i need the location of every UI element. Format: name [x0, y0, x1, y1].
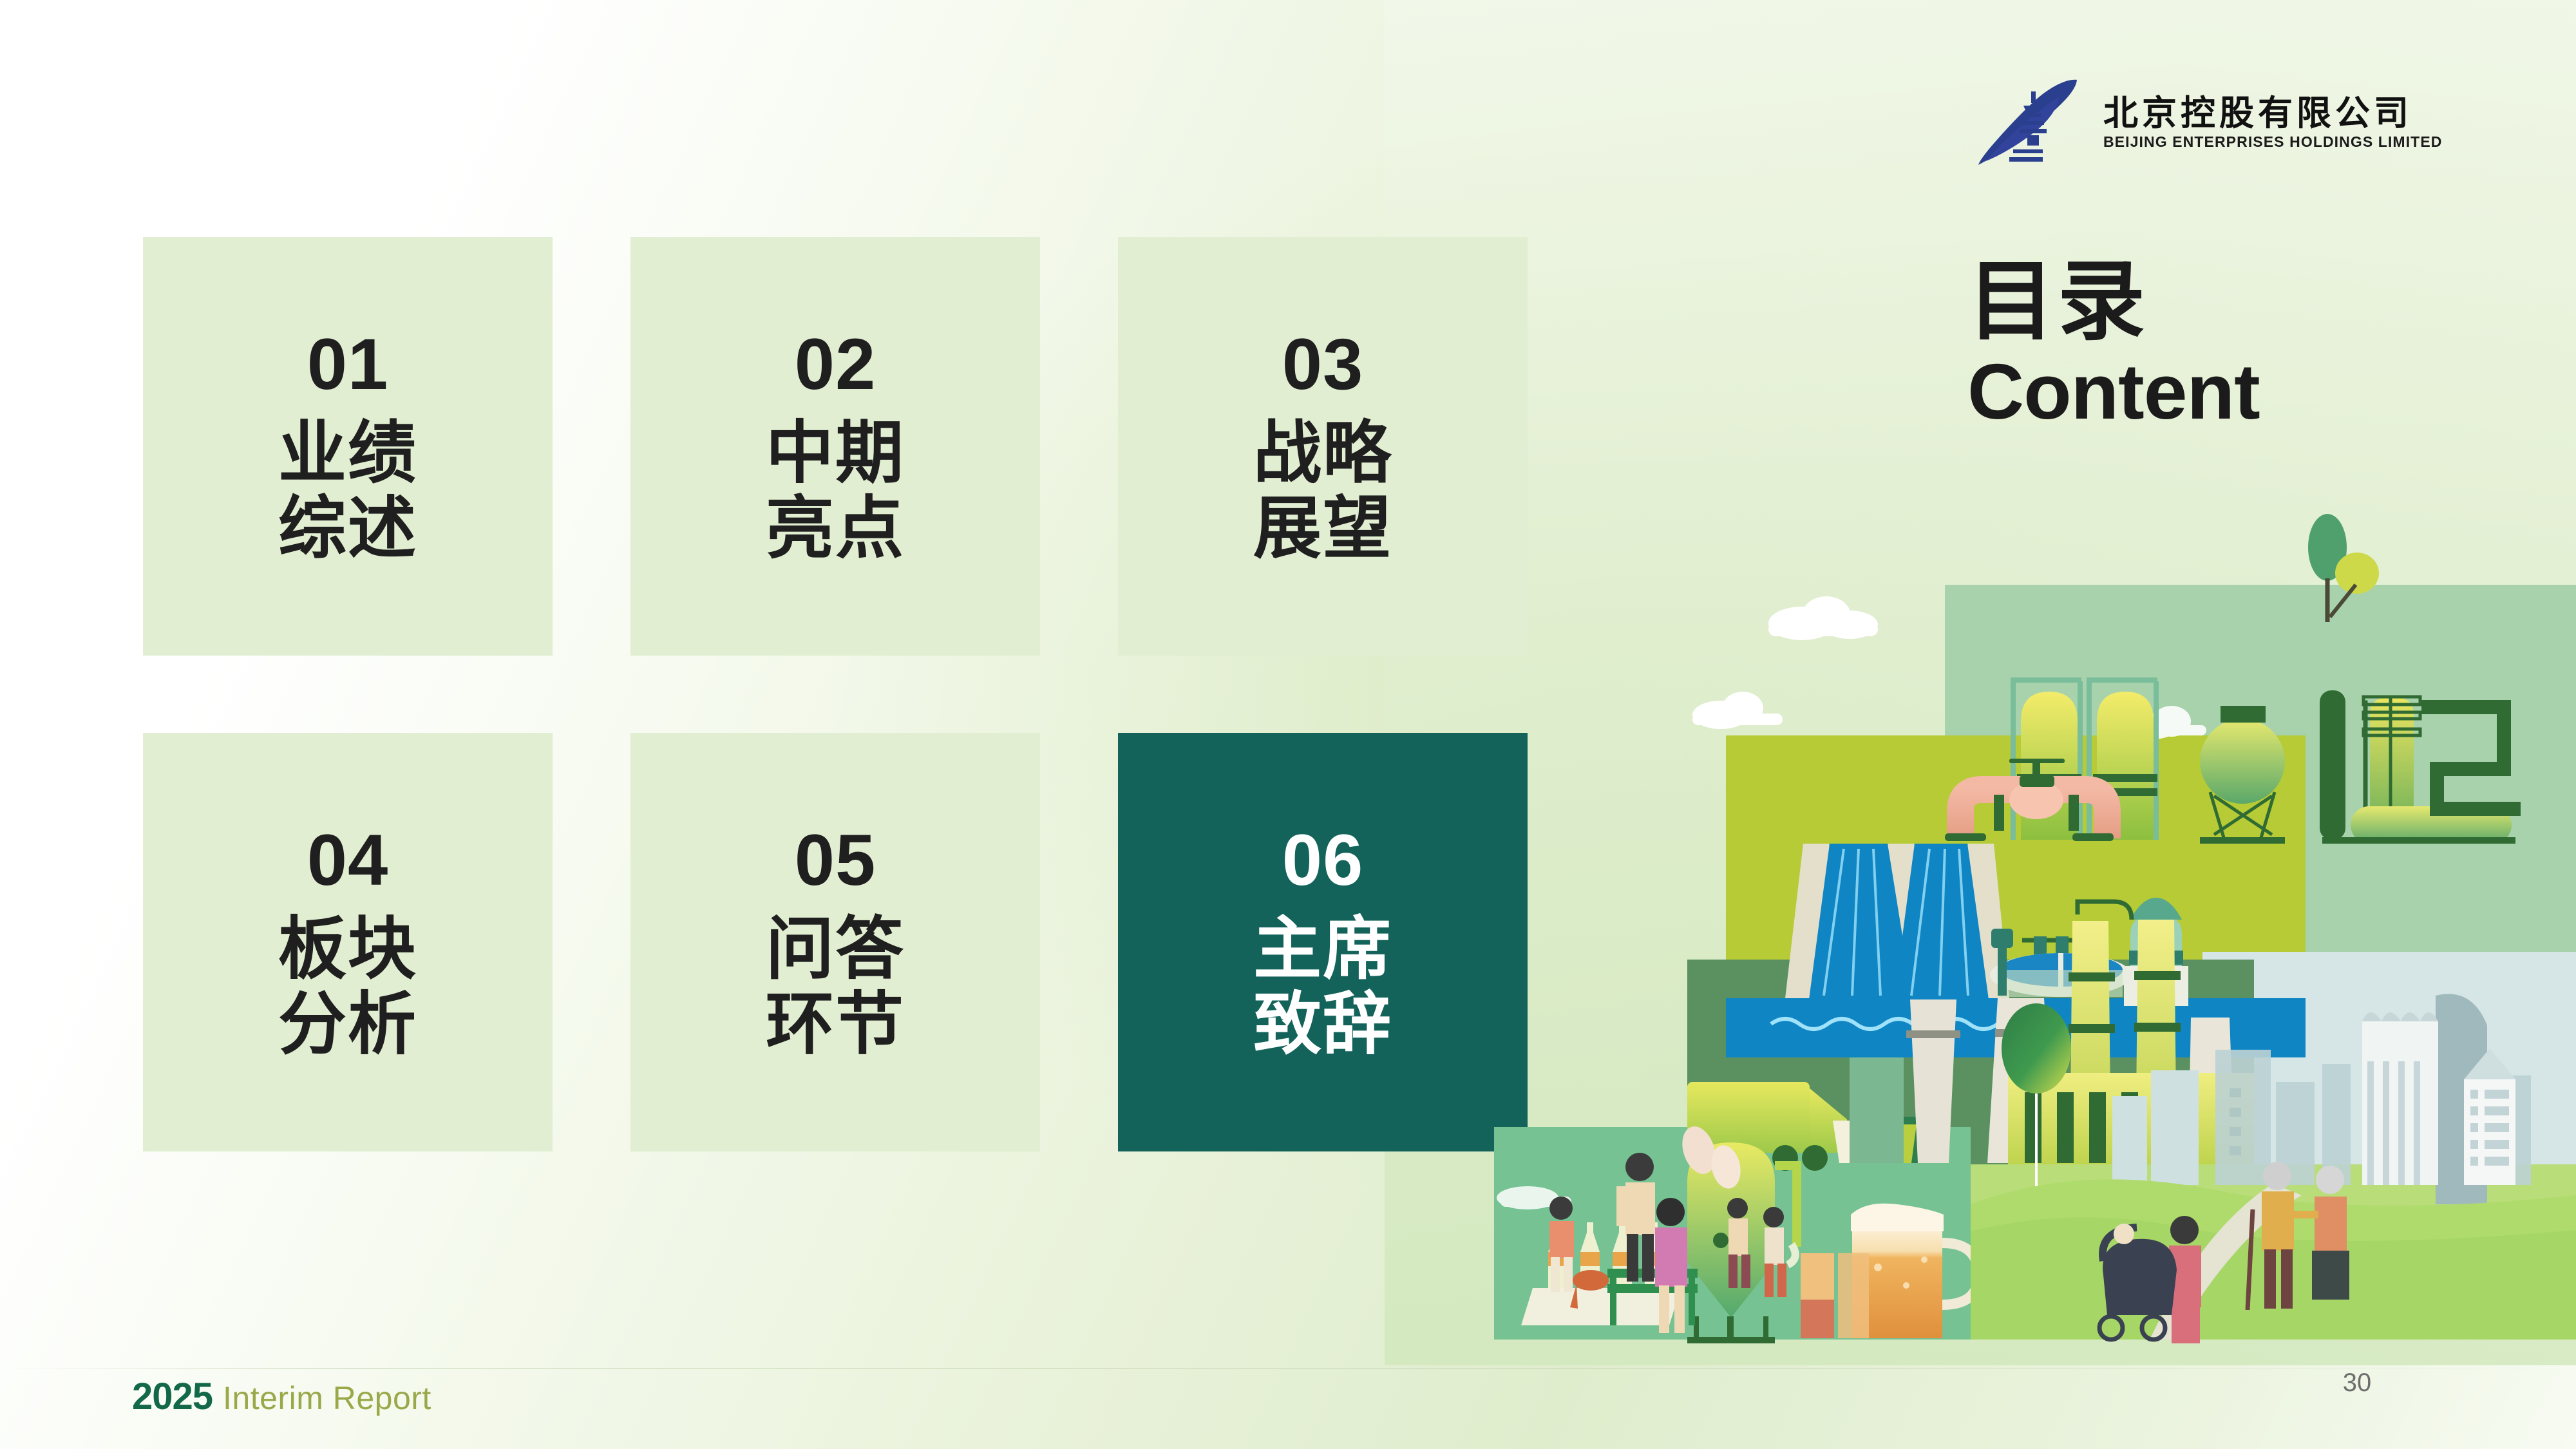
business-segments-illustration	[1494, 509, 2576, 1359]
agenda-tile-04[interactable]: 04 板块 分析	[143, 733, 553, 1151]
agenda-tile-02-label-line1: 中期	[766, 416, 905, 491]
agenda-tile-02[interactable]: 02 中期 亮点	[630, 237, 1040, 656]
agenda-tile-02-number: 02	[795, 328, 876, 401]
footer-report-label: 2025 Interim Report	[132, 1378, 431, 1416]
page-title-chinese: 目录	[1967, 258, 2260, 347]
agenda-tile-06[interactable]: 06 主席 致辞	[1118, 733, 1528, 1151]
agenda-tile-01[interactable]: 01 业绩 综述	[143, 237, 553, 656]
agenda-tile-05-label-line2: 环节	[766, 987, 905, 1063]
agenda-tile-grid: 01 业绩 综述 02 中期 亮点 03 战略 展望 04 板块 分析 05 问…	[143, 237, 1528, 1151]
slide-root: 北京控股有限公司 BEIJING ENTERPRISES HOLDINGS LI…	[0, 0, 2576, 1449]
agenda-tile-02-label-line2: 亮点	[766, 491, 905, 567]
agenda-tile-03-label-line1: 战略	[1253, 416, 1392, 491]
footer-report-type: Interim Report	[223, 1382, 431, 1414]
logo-chinese-name: 北京控股有限公司	[2103, 96, 2443, 131]
agenda-tile-04-label-line2: 分析	[278, 987, 417, 1063]
footer-year: 2025	[132, 1378, 213, 1416]
agenda-tile-04-number: 04	[307, 824, 389, 896]
agenda-tile-01-label-line2: 综述	[278, 491, 417, 567]
agenda-tile-03[interactable]: 03 战略 展望	[1118, 237, 1528, 656]
logo-english-name: BEIJING ENTERPRISES HOLDINGS LIMITED	[2103, 135, 2443, 149]
agenda-tile-06-number: 06	[1282, 824, 1364, 896]
page-number: 30	[2318, 1368, 2396, 1397]
page-title: 目录 Content	[1967, 258, 2260, 433]
agenda-tile-05-number: 05	[795, 824, 876, 896]
footer-divider	[0, 1368, 2576, 1369]
agenda-tile-01-label-line1: 业绩	[278, 416, 417, 491]
page-title-english: Content	[1967, 351, 2260, 433]
company-logo: 北京控股有限公司 BEIJING ENTERPRISES HOLDINGS LI…	[1977, 77, 2486, 167]
agenda-tile-06-label-line2: 致辞	[1253, 987, 1392, 1063]
agenda-tile-05-label-line1: 问答	[766, 912, 905, 987]
logo-wordmark: 北京控股有限公司 BEIJING ENTERPRISES HOLDINGS LI…	[2103, 96, 2443, 149]
agenda-tile-03-number: 03	[1282, 328, 1364, 401]
agenda-tile-01-number: 01	[307, 328, 389, 401]
agenda-tile-06-label-line1: 主席	[1253, 912, 1392, 987]
beh-wing-logo-icon	[1977, 77, 2087, 167]
agenda-tile-05[interactable]: 05 问答 环节	[630, 733, 1040, 1151]
agenda-tile-04-label-line1: 板块	[278, 912, 417, 987]
agenda-tile-03-label-line2: 展望	[1253, 491, 1392, 567]
